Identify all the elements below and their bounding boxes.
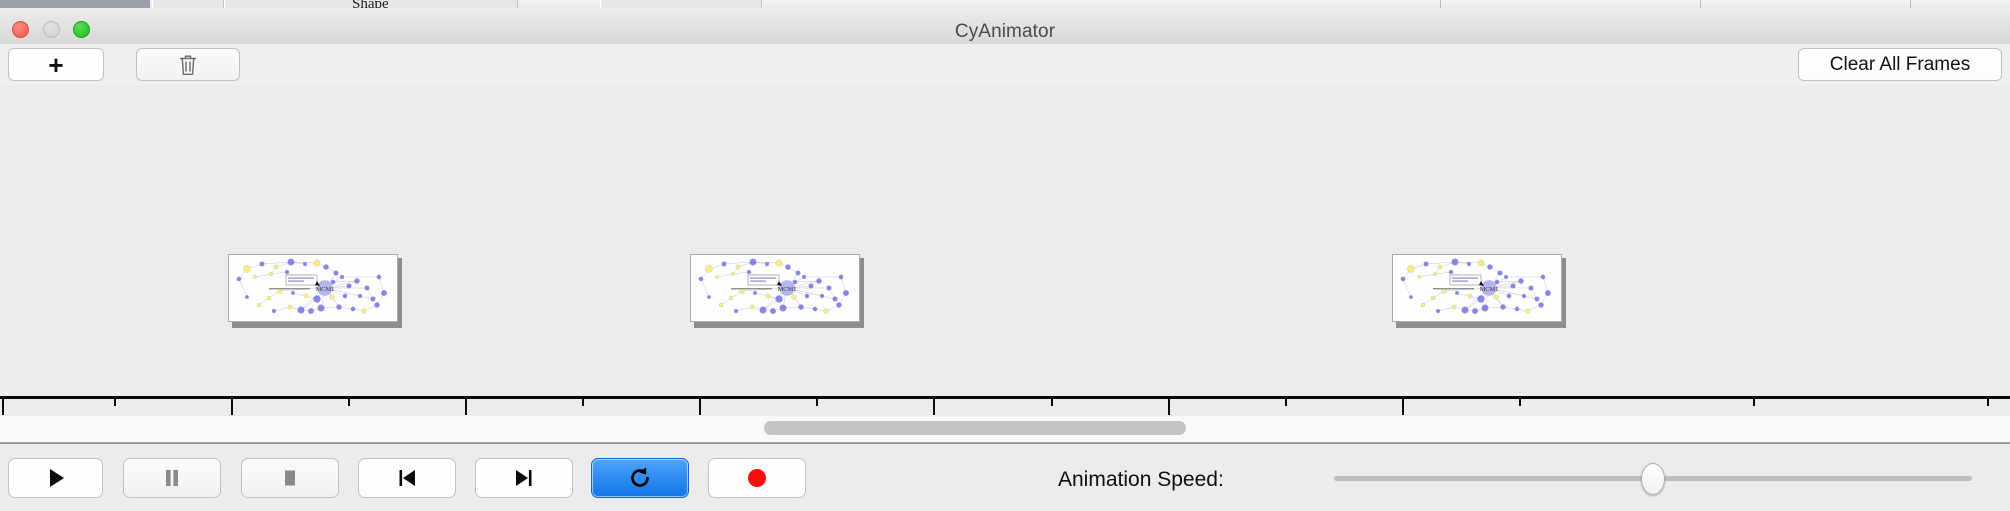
record-button[interactable] [708,458,806,498]
stop-icon [280,467,300,489]
clear-all-frames-button[interactable]: Clear All Frames [1798,48,2002,81]
network-graph-preview: MCM1 [691,255,859,321]
animation-speed-slider-knob[interactable] [1641,463,1665,495]
trash-icon [178,53,198,77]
skip-back-button[interactable] [358,458,456,498]
network-graph-preview: MCM1 [1393,255,1561,321]
timeline-frame-thumbnail[interactable]: MCM1 [690,254,862,326]
animation-speed-label: Animation Speed: [1058,468,1224,492]
pause-button[interactable] [123,458,221,498]
thumbnail-card[interactable]: MCM1 [228,254,398,322]
add-frame-button[interactable]: + [8,48,104,81]
timeline-frame-thumbnail[interactable]: MCM1 [228,254,400,326]
loop-icon [627,465,653,491]
svg-text:MCM1: MCM1 [316,286,335,293]
play-icon [46,467,66,489]
record-icon [745,466,769,490]
play-button[interactable] [8,458,103,498]
skip-forward-button[interactable] [475,458,573,498]
pause-icon [162,467,182,489]
axis-line [0,396,2010,399]
window-title: CyAnimator [0,21,2010,43]
svg-text:MCM1: MCM1 [1480,286,1499,293]
timeline-scrollbar[interactable] [0,416,2010,443]
svg-text:MCM1: MCM1 [778,286,797,293]
timeline-scrollbar-thumb[interactable] [764,421,1186,435]
playback-control-bar: Animation Speed: [0,443,2010,511]
clear-all-frames-label: Clear All Frames [1830,54,1970,76]
stop-button[interactable] [241,458,339,498]
thumbnail-card[interactable]: MCM1 [690,254,860,322]
plus-icon: + [48,52,63,78]
thumbnail-card[interactable]: MCM1 [1392,254,1562,322]
cyanimator-window: Shape CyAnimator + Clear All Frames MCM1… [0,0,2010,510]
skip-backward-icon [396,467,418,489]
loop-button[interactable] [591,458,689,498]
timeline-panel[interactable]: MCM1MCM1MCM1 2131415161718 Seconds [0,86,2010,417]
timeline-frame-thumbnail[interactable]: MCM1 [1392,254,1564,326]
title-bar: CyAnimator [0,8,2010,45]
toolbar: + Clear All Frames [0,44,2010,87]
skip-forward-icon [513,467,535,489]
animation-speed-slider[interactable] [1334,476,1972,481]
delete-frame-button[interactable] [136,48,240,81]
network-graph-preview: MCM1 [229,255,397,321]
